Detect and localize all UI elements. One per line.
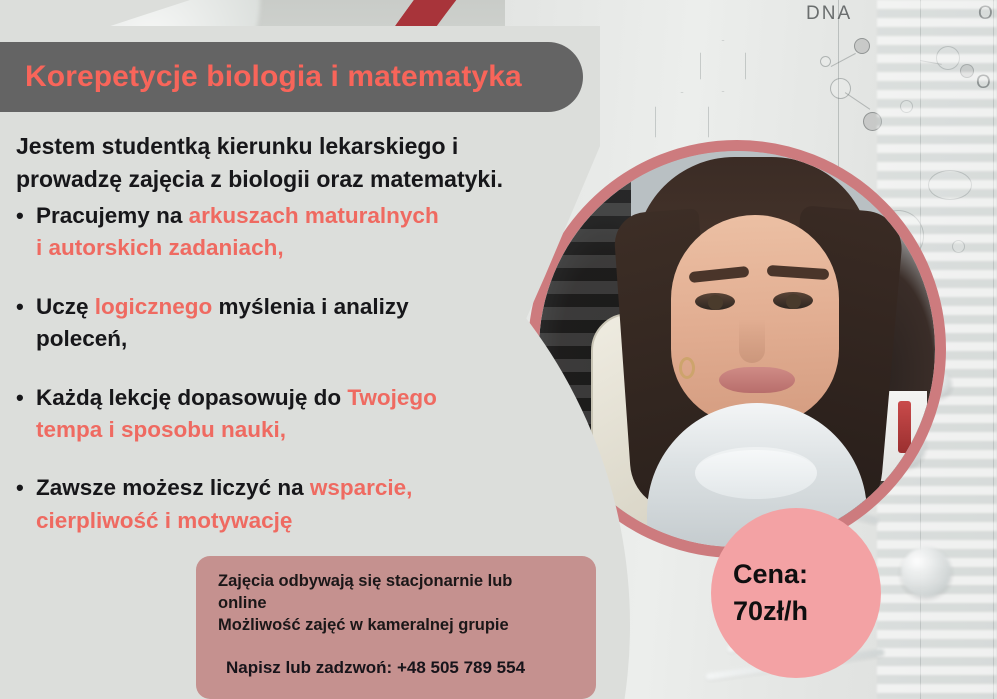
portrait-turtleneck-collar: [695, 447, 817, 499]
price-badge: Cena: 70zł/h: [711, 508, 881, 678]
bullet-2-highlight-1: logicznego: [95, 294, 213, 319]
bullet-marker: •: [16, 472, 36, 537]
list-item-text: Każdą lekcję dopasowuję do Twojego tempa…: [36, 382, 503, 447]
list-item-text: Uczę logicznego myślenia i analizy polec…: [36, 291, 503, 356]
intro-paragraph: Jestem studentką kierunku lekarskiego i …: [16, 130, 578, 195]
portrait-lips: [719, 367, 795, 393]
bullet-4-highlight-1: wsparcie,: [310, 475, 413, 500]
bullet-marker: •: [16, 200, 36, 265]
portrait-eye-right: [773, 292, 813, 309]
portrait-eye-left: [695, 293, 735, 310]
price-label: Cena:: [733, 556, 881, 593]
bullet-3-plain-1: Każdą lekcję dopasowuję do: [36, 385, 347, 410]
bullet-3-highlight-2: tempa i sposobu nauki,: [36, 414, 503, 446]
info-line-2: online: [218, 592, 574, 614]
bullet-1-plain-1: Pracujemy na: [36, 203, 189, 228]
bullet-marker: •: [16, 382, 36, 447]
bullet-marker: •: [16, 291, 36, 356]
portrait-nose: [739, 319, 765, 363]
intro-line-2: prowadzę zajęcia z biologii oraz matemat…: [16, 163, 578, 196]
info-box: Zajęcia odbywają się stacjonarnie lub on…: [196, 556, 596, 699]
molecule-node-icon: [854, 38, 870, 54]
bullet-4-plain-1: Zawsze możesz liczyć na: [36, 475, 310, 500]
bullet-2-plain-1: Uczę: [36, 294, 95, 319]
info-line-1: Zajęcia odbywają się stacjonarnie lub: [218, 570, 574, 592]
list-item-text: Zawsze możesz liczyć na wsparcie, cierpl…: [36, 472, 503, 537]
page-title: Korepetycje biologia i matematyka: [0, 60, 522, 94]
intro-line-1: Jestem studentką kierunku lekarskiego i: [16, 130, 578, 163]
list-item: • Pracujemy na arkuszach maturalnych i a…: [16, 200, 503, 265]
bullet-3-highlight-1: Twojego: [347, 385, 437, 410]
list-item: • Każdą lekcję dopasowuję do Twojego tem…: [16, 382, 503, 447]
bullet-2-tail: poleceń,: [36, 323, 503, 355]
bullet-1-highlight-2: i autorskich zadaniach,: [36, 232, 503, 264]
bullet-2-plain-2: myślenia i analizy: [212, 294, 408, 319]
benefits-list: • Pracujemy na arkuszach maturalnych i a…: [16, 200, 503, 563]
room-shelf-item: [898, 401, 911, 453]
wall-label-dna: DNA: [806, 3, 852, 25]
list-item-text: Pracujemy na arkuszach maturalnych i aut…: [36, 200, 503, 265]
portrait-earring: [679, 357, 695, 379]
info-line-3: Możliwość zajęć w kameralnej grupie: [218, 614, 574, 636]
title-pill: Korepetycje biologia i matematyka: [0, 42, 583, 112]
price-amount: 70zł/h: [733, 593, 881, 630]
poster-canvas: DNA O O: [0, 0, 997, 699]
list-item: • Uczę logicznego myślenia i analizy pol…: [16, 291, 503, 356]
contact-phone[interactable]: Napisz lub zadzwoń: +48 505 789 554: [218, 658, 574, 678]
bullet-4-highlight-2: cierpliwość i motywację: [36, 505, 503, 537]
list-item: • Zawsze możesz liczyć na wsparcie, cier…: [16, 472, 503, 537]
bullet-1-highlight-1: arkuszach maturalnych: [189, 203, 439, 228]
